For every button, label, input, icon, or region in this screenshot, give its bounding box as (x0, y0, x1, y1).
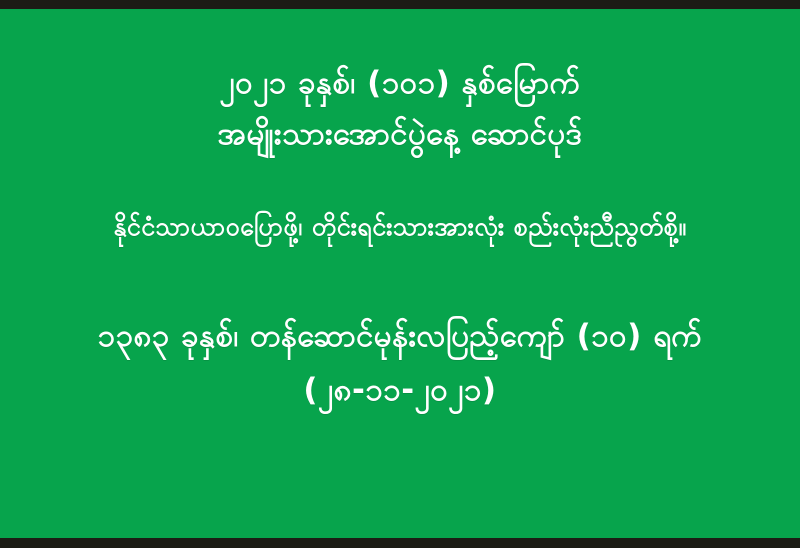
banner-canvas: ၂၀၂၁ ခုနှစ်၊ (၁၀၁) နှစ်မြောက် အမျိုးသားအ… (0, 9, 800, 538)
top-border-band (0, 0, 800, 9)
bottom-border-band (0, 538, 800, 548)
headline-line-2: အမျိုးသားအောင်ပွဲနေ့ ဆောင်ပုဒ် (0, 116, 800, 153)
victory-day-slogan-banner: ၂၀၂၁ ခုနှစ်၊ (၁၀၁) နှစ်မြောက် အမျိုးသားအ… (0, 0, 800, 550)
banner-text-stack: ၂၀၂၁ ခုနှစ်၊ (၁၀၁) နှစ်မြောက် အမျိုးသားအ… (0, 9, 800, 538)
slogan-text: နိုင်ငံသာယာဝပြောဖို့၊ တိုင်းရင်းသားအားလု… (0, 212, 800, 242)
date-line-myanmar-calendar: ၁၃၈၃ ခုနှစ်၊ တန်ဆောင်မုန်းလပြည့်ကျော် (၁… (0, 318, 800, 355)
headline-line-1: ၂၀၂၁ ခုနှစ်၊ (၁၀၁) နှစ်မြောက် (0, 65, 800, 102)
date-line-gregorian: (၂၈-၁၁-၂၀၂၁) (0, 372, 800, 409)
